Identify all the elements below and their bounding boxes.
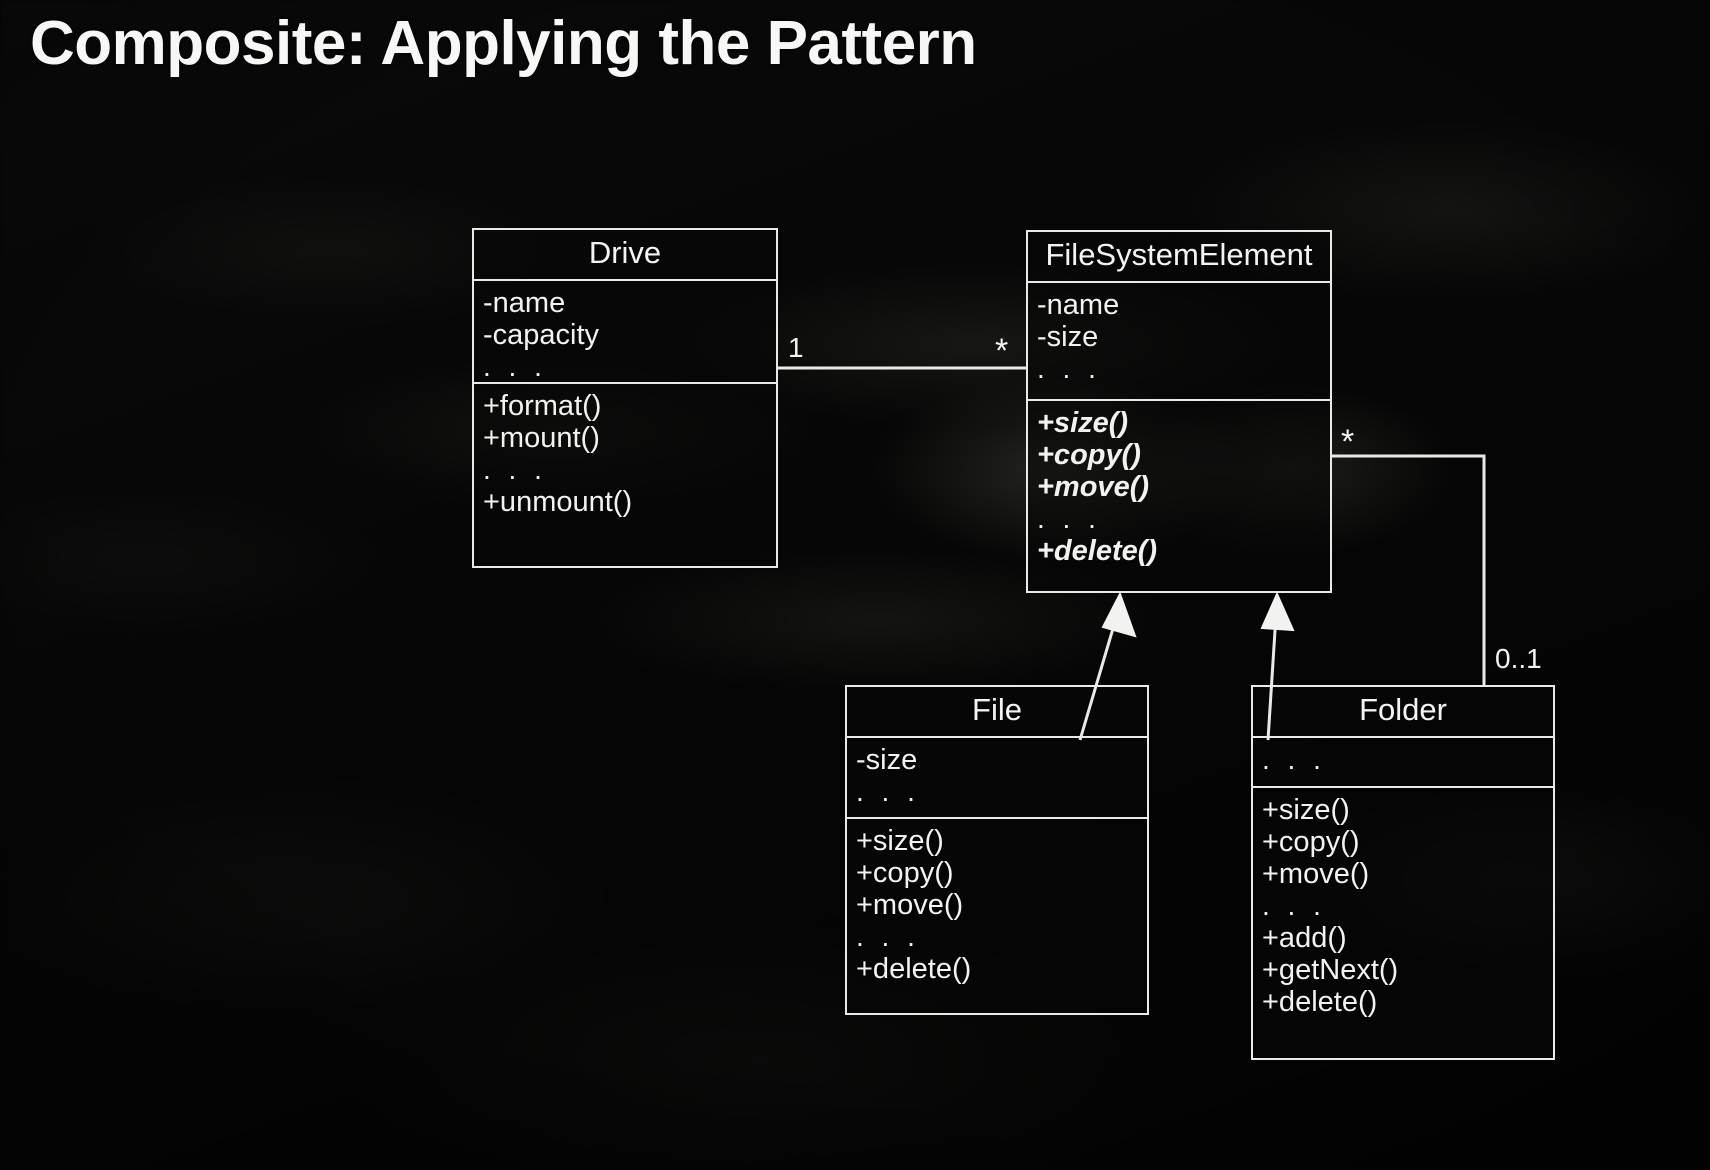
operations-compartment-drive: +format() +mount() . . . +unmount() [474,384,776,528]
operation-row: +size() [847,825,1147,857]
attribute-ellipsis: . . . [474,351,776,383]
class-name-folder: Folder [1253,687,1553,738]
attribute-ellipsis: . . . [847,776,1147,808]
operation-row: +delete() [1028,535,1330,567]
attribute-row: -capacity [474,319,776,351]
multiplicity-filesystemelement-children: * [1341,425,1354,459]
attributes-compartment-filesystemelement: -name -size . . . [1028,283,1330,401]
uml-class-drive[interactable]: Drive -name -capacity . . . +format() +m… [472,228,778,568]
operation-row: +copy() [1253,826,1553,858]
operations-compartment-file: +size() +copy() +move() . . . +delete() [847,819,1147,995]
uml-class-file[interactable]: File -size . . . +size() +copy() +move()… [845,685,1149,1015]
multiplicity-folder-parent: 0..1 [1495,645,1542,673]
attribute-ellipsis: . . . [1028,353,1330,385]
operation-row: +unmount() [474,486,776,518]
slide-canvas: Composite: Applying the Pattern Drive -n… [0,0,1710,1170]
operation-row: +delete() [1253,986,1553,1018]
operation-row: +move() [847,889,1147,921]
operation-row: +size() [1253,794,1553,826]
operation-row: +size() [1028,407,1330,439]
uml-class-folder[interactable]: Folder . . . +size() +copy() +move() . .… [1251,685,1555,1060]
uml-class-filesystemelement[interactable]: FileSystemElement -name -size . . . +siz… [1026,230,1332,593]
operation-ellipsis: . . . [1253,890,1553,922]
operation-row: +copy() [847,857,1147,889]
operations-compartment-folder: +size() +copy() +move() . . . +add() +ge… [1253,788,1553,1028]
operation-ellipsis: . . . [847,921,1147,953]
operation-row: +move() [1253,858,1553,890]
attribute-row: -size [1028,321,1330,353]
attributes-compartment-folder: . . . [1253,738,1553,788]
class-name-drive: Drive [474,230,776,281]
multiplicity-filesystemelement-side: * [995,334,1008,368]
attribute-row: -name [474,287,776,319]
operation-row: +mount() [474,422,776,454]
class-name-file: File [847,687,1147,738]
slide-title: Composite: Applying the Pattern [30,8,977,79]
attributes-compartment-file: -size . . . [847,738,1147,819]
operation-row: +delete() [847,953,1147,985]
class-name-filesystemelement: FileSystemElement [1028,232,1330,283]
multiplicity-drive-side: 1 [788,334,804,362]
attribute-row: -name [1028,289,1330,321]
attribute-row: -size [847,744,1147,776]
operations-compartment-filesystemelement: +size() +copy() +move() . . . +delete() [1028,401,1330,577]
operation-ellipsis: . . . [474,454,776,486]
operation-row: +add() [1253,922,1553,954]
operation-row: +format() [474,390,776,422]
operation-ellipsis: . . . [1028,503,1330,535]
attributes-compartment-drive: -name -capacity . . . [474,281,776,384]
operation-row: +getNext() [1253,954,1553,986]
operation-row: +copy() [1028,439,1330,471]
operation-row: +move() [1028,471,1330,503]
attribute-ellipsis: . . . [1253,744,1553,776]
